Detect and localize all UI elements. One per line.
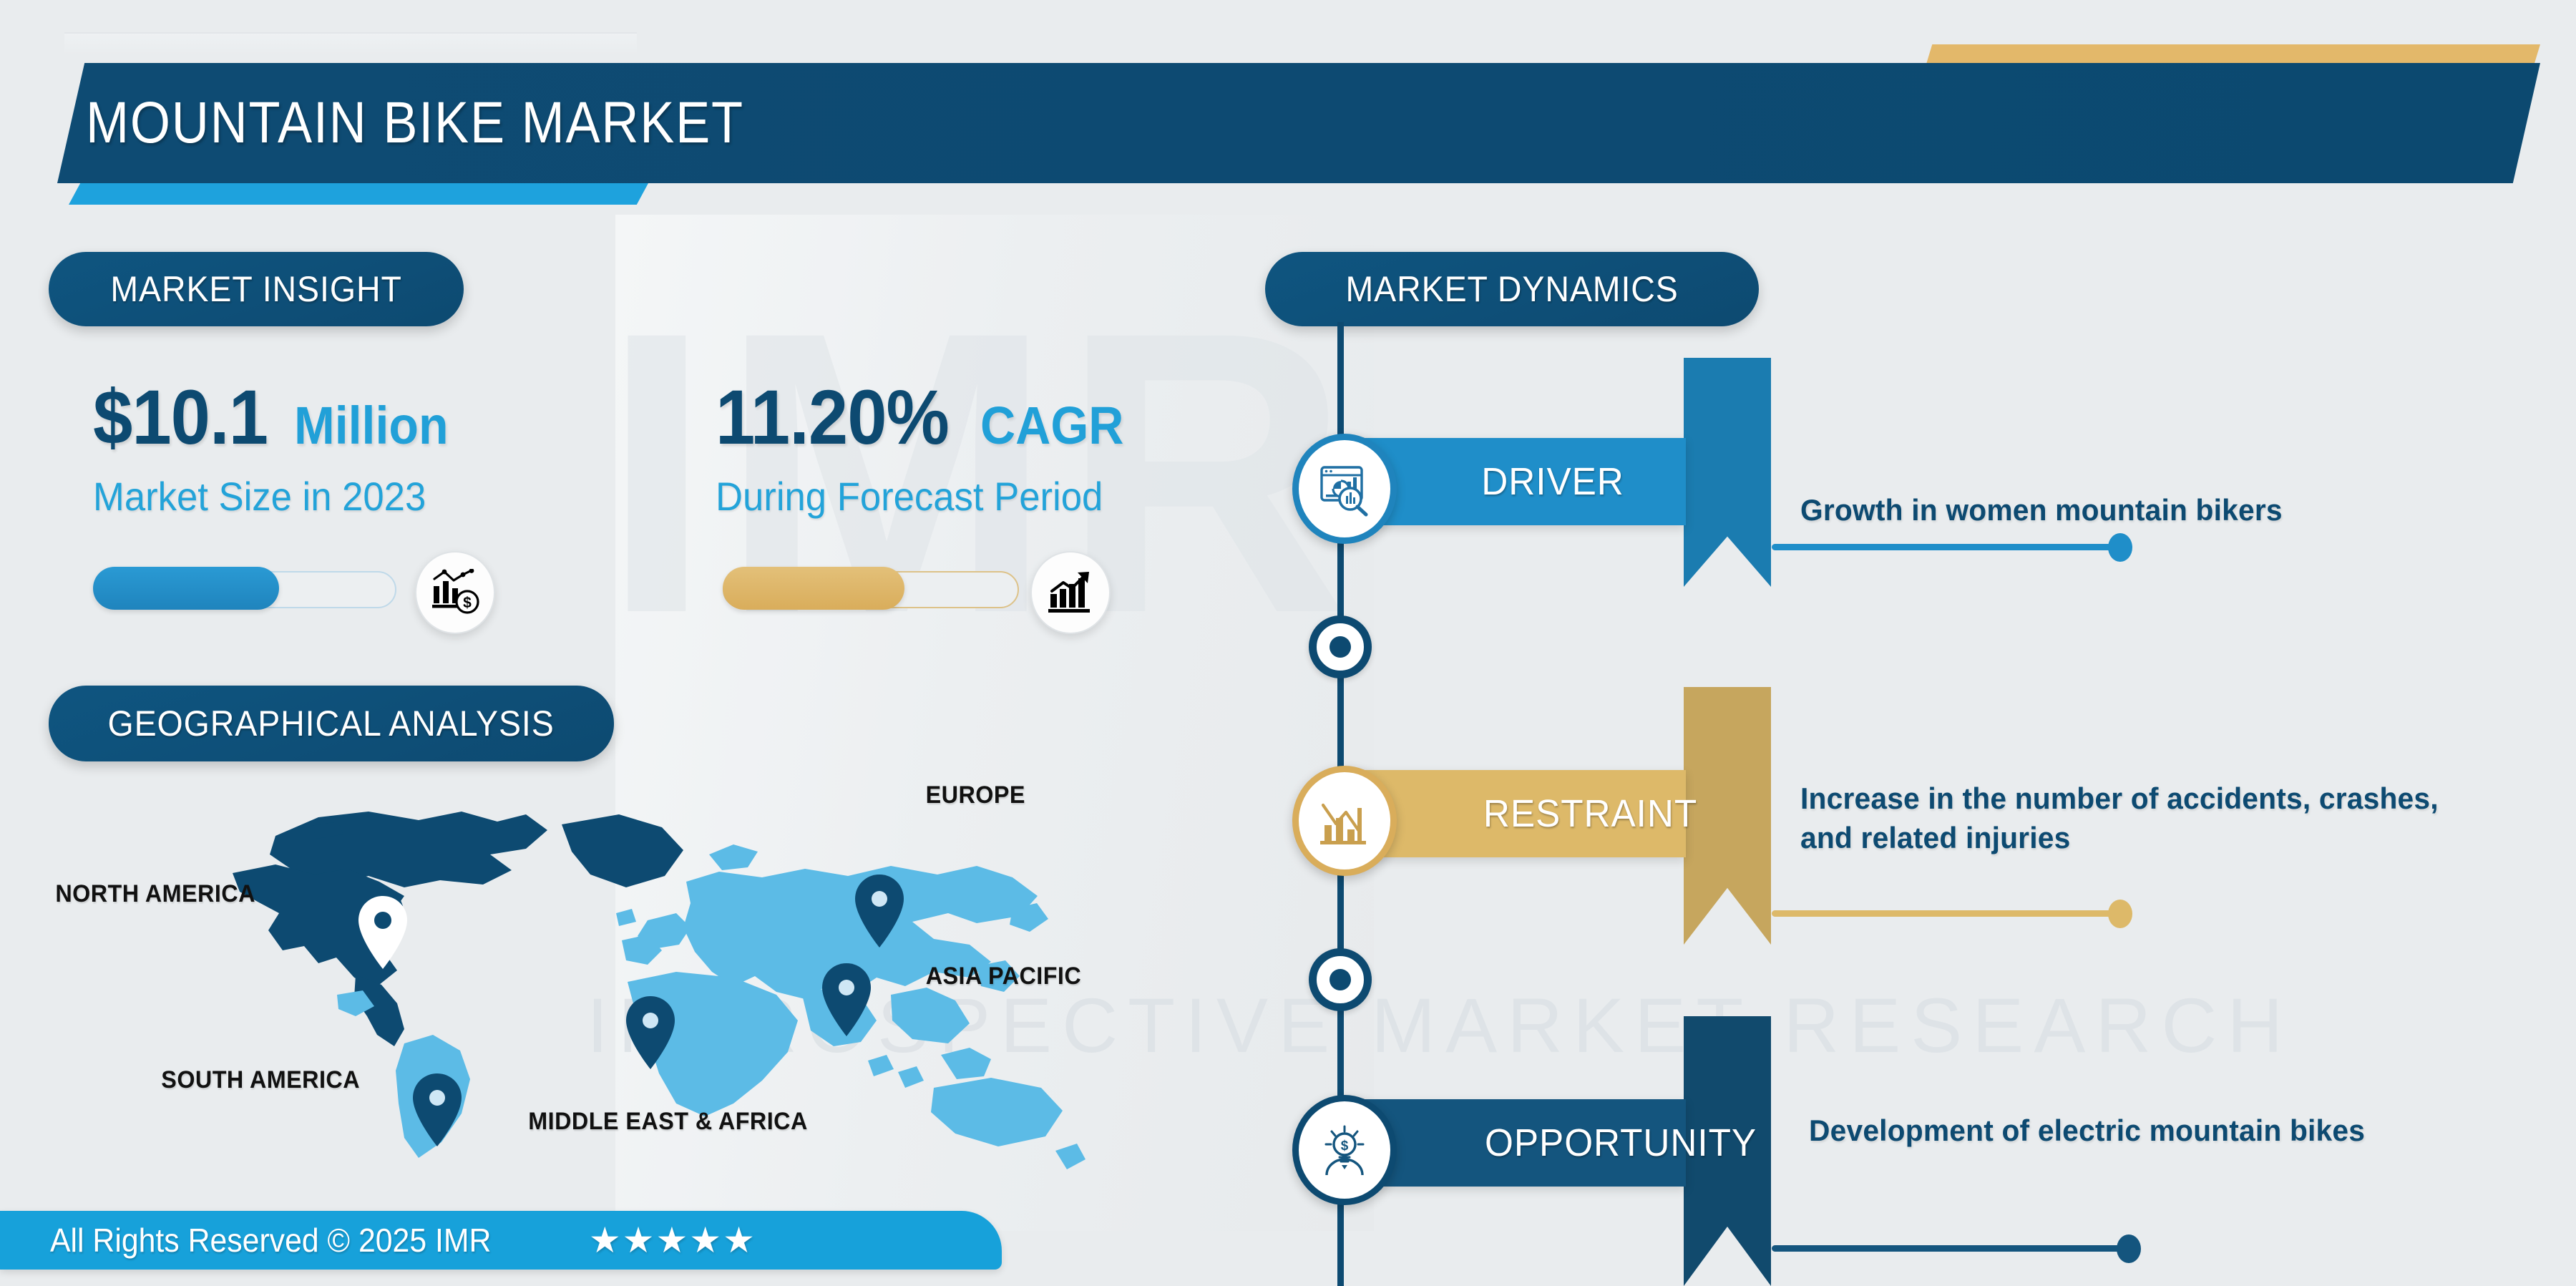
map-label-asia-pacific: ASIA PACIFIC xyxy=(926,963,1081,990)
bar-chart-dollar-icon: $ xyxy=(415,551,495,634)
section-label-geographical-analysis-text: GEOGRAPHICAL ANALYSIS xyxy=(108,703,555,744)
growth-arrow-chart-icon xyxy=(1030,551,1111,634)
restraint-label: RESTRAINT xyxy=(1483,791,1697,836)
driver-description-rule xyxy=(1772,544,2118,550)
dashboard-magnifier-icon xyxy=(1292,434,1397,544)
section-label-market-dynamics-text: MARKET DYNAMICS xyxy=(1345,268,1678,310)
market-size-progress xyxy=(93,565,394,611)
lightbulb-dollar-icon: $ xyxy=(1292,1095,1397,1205)
driver-description-dot xyxy=(2108,533,2132,562)
opportunity-description: Development of electric mountain bikes xyxy=(1809,1111,2447,1150)
cagr-progress xyxy=(723,565,1016,611)
svg-text:$: $ xyxy=(1341,1139,1349,1154)
metric-cagr: 11.20%CAGR During Forecast Period xyxy=(716,372,1136,520)
header-blue-accent xyxy=(69,183,648,205)
opportunity-label: OPPORTUNITY xyxy=(1485,1121,1757,1165)
restraint-description-dot xyxy=(2108,900,2132,928)
map-label-north-america: NORTH AMERICA xyxy=(55,880,255,908)
map-region-north-america xyxy=(233,812,683,1046)
star-rating-icon: ★★★★★ xyxy=(589,1219,756,1261)
cagr-progress-fill xyxy=(723,567,904,610)
market-size-unit: Million xyxy=(294,395,449,456)
section-label-market-insight: MARKET INSIGHT xyxy=(49,252,464,326)
declining-bar-chart-icon xyxy=(1292,766,1397,876)
footer-bar: All Rights Reserved © 2025 IMR ★★★★★ xyxy=(0,1211,1002,1270)
cagr-unit: CAGR xyxy=(980,395,1123,456)
header-bar: MOUNTAIN BIKE MARKET xyxy=(57,63,2540,183)
market-size-value: $10.1 xyxy=(93,372,268,462)
map-label-middle-east-africa: MIDDLE EAST & AFRICA xyxy=(528,1108,808,1136)
driver-ribbon-shade xyxy=(1684,358,1771,587)
opportunity-description-rule xyxy=(1772,1245,2127,1252)
section-label-geographical-analysis: GEOGRAPHICAL ANALYSIS xyxy=(49,686,614,761)
restraint-description: Increase in the number of accidents, cra… xyxy=(1800,779,2439,858)
svg-text:$: $ xyxy=(463,595,472,611)
cagr-value: 11.20% xyxy=(716,372,949,462)
page-title: MOUNTAIN BIKE MARKET xyxy=(86,89,744,157)
copyright-text: All Rights Reserved © 2025 IMR xyxy=(50,1221,491,1260)
driver-description: Growth in women mountain bikers xyxy=(1800,490,2460,530)
map-label-europe: EUROPE xyxy=(926,781,1025,809)
section-label-market-dynamics: MARKET DYNAMICS xyxy=(1265,252,1759,326)
market-size-progress-fill xyxy=(93,567,279,610)
decorative-top-strip xyxy=(64,32,637,55)
infographic-canvas: IMR INTROSPECTIVE MARKET RESEARCH MOUNTA… xyxy=(0,0,2576,1286)
cagr-caption: During Forecast Period xyxy=(716,473,1111,520)
driver-label: DRIVER xyxy=(1481,459,1624,504)
map-label-south-america: SOUTH AMERICA xyxy=(161,1066,360,1094)
market-size-caption: Market Size in 2023 xyxy=(93,473,440,520)
timeline-node xyxy=(1309,948,1372,1011)
section-label-market-insight-text: MARKET INSIGHT xyxy=(110,268,401,310)
metric-market-size: $10.1Million Market Size in 2023 xyxy=(93,372,462,520)
opportunity-description-dot xyxy=(2117,1234,2141,1263)
restraint-description-rule xyxy=(1772,910,2118,917)
timeline-node xyxy=(1309,615,1372,678)
